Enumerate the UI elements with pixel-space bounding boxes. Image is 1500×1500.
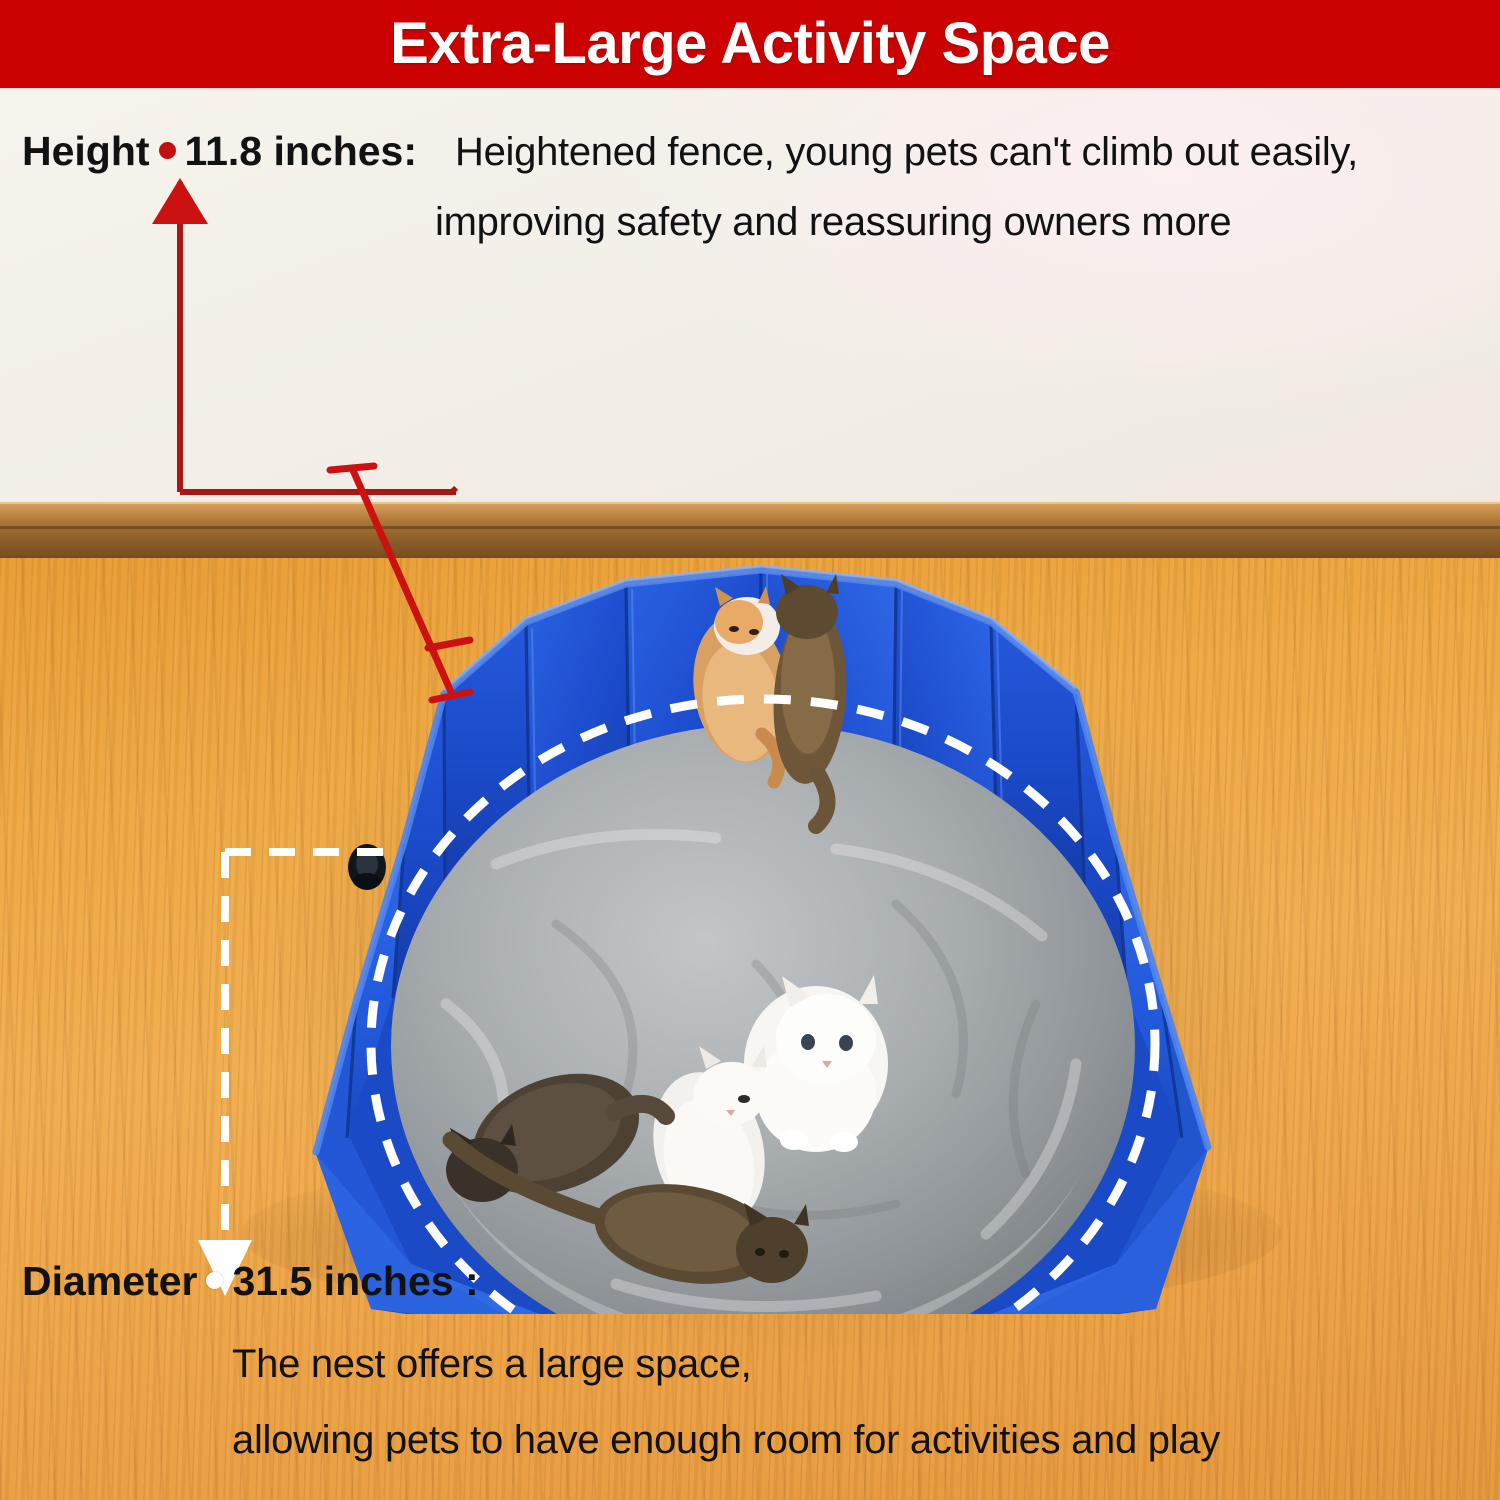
page-title: Extra-Large Activity Space (390, 15, 1110, 73)
diameter-annotation-label: Diameter31.5 inches : (22, 1258, 479, 1305)
diameter-label: Diameter (22, 1258, 197, 1304)
height-annotation-label: Height11.8 inches: (22, 128, 417, 175)
height-description-line-2: improving safety and reassuring owners m… (435, 200, 1231, 245)
white-dot-icon (206, 1272, 223, 1289)
drain-plug (348, 844, 386, 890)
red-dot-icon (159, 142, 176, 159)
height-label: Height (22, 128, 150, 174)
diameter-description-line-1: The nest offers a large space, (232, 1342, 751, 1387)
playpen-graphic (196, 304, 1316, 1314)
header-banner: Extra-Large Activity Space (0, 0, 1500, 88)
height-description-line-1: Heightened fence, young pets can't climb… (455, 130, 1358, 175)
height-value: 11.8 inches: (185, 128, 417, 174)
diameter-value: 31.5 inches : (232, 1258, 478, 1304)
pet-playpen (196, 304, 1316, 1314)
diameter-description-line-2: allowing pets to have enough room for ac… (232, 1418, 1220, 1463)
infographic-canvas: Extra-Large Activity Space (0, 0, 1500, 1500)
